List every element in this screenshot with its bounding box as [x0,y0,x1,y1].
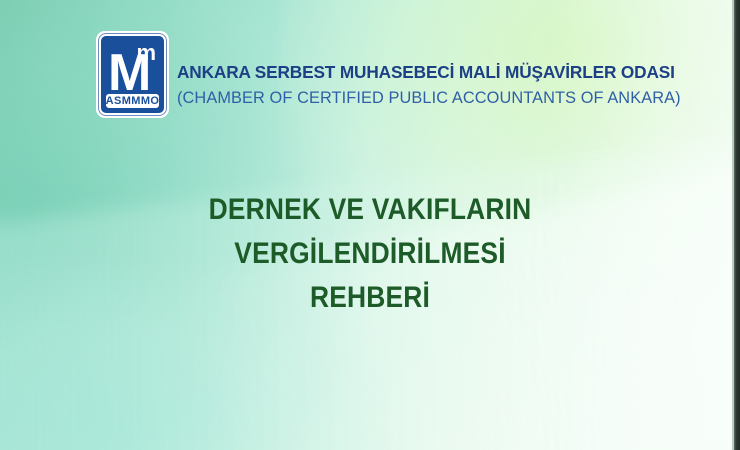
cover-page: M m ASMMMO ANKARA SERBEST MUHASEBECİ MAL… [0,0,740,450]
organization-wordmark: ANKARA SERBEST MUHASEBECİ MALİ MÜŞAVİRLE… [177,62,717,108]
cover-title-line-2: VERGİLENDİRİLMESİ [44,232,695,276]
logo-letter-m-superscript: m [136,42,156,64]
organization-name-turkish: ANKARA SERBEST MUHASEBECİ MALİ MÜŞAVİRLE… [177,62,709,83]
cover-title-line-3: REHBERİ [44,276,695,320]
cover-title: DERNEK VE VAKIFLARIN VERGİLENDİRİLMESİ R… [0,188,740,320]
logo-acronym-band: ASMMMO [105,93,160,109]
page-edge-strip [734,0,740,450]
organization-name-english: (CHAMBER OF CERTIFIED PUBLIC ACCOUNTANTS… [177,88,712,108]
logo-plate: M m ASMMMO [99,34,166,115]
cover-title-line-1: DERNEK VE VAKIFLARIN [44,188,695,232]
asmmmo-logo-icon: M m ASMMMO [96,31,169,118]
logo-acronym-text: ASMMMO [106,96,160,107]
masthead: M m ASMMMO ANKARA SERBEST MUHASEBECİ MAL… [0,0,740,150]
